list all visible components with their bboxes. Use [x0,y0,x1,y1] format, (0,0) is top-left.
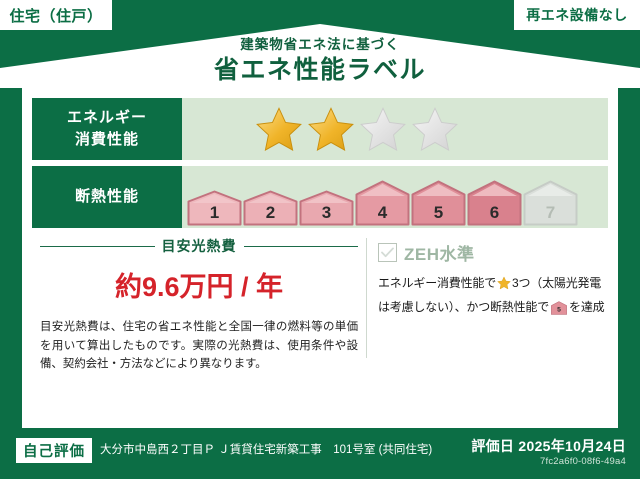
star-filled-icon [255,106,303,152]
zeh-description-part1: エネルギー消費性能で [378,276,496,290]
energy-performance-key: エネルギー 消費性能 [32,98,182,160]
estimated-utility-cost-heading: 目安光熱費 [40,236,358,256]
label-panel: エネルギー 消費性能 断熱性能 1234567 目安光熱費 約9.6万円 / 年 [22,88,618,428]
building-type-tag: 住宅（住戸） [0,0,112,30]
insulation-level-number: 7 [546,203,555,222]
svg-text:5: 5 [557,306,561,313]
property-address: 大分市中島西２丁目Ｐ Ｊ賃貸住宅新築工事 101号室 (共同住宅) [100,441,432,457]
insulation-performance-key-line1: 断熱性能 [75,186,139,208]
estimated-utility-cost-heading-label: 目安光熱費 [162,236,237,256]
zeh-standard-description: エネルギー消費性能で3つ（太陽光発電は考慮しない）、かつ断熱性能で5を達成 [378,273,610,321]
insulation-level-filled: 5 [411,180,466,226]
insulation-performance-row: 断熱性能 1234567 [32,166,608,228]
check-icon [381,247,394,258]
evaluation-date: 評価日 2025年10月24日 [471,436,626,456]
energy-performance-key-line1: エネルギー [67,107,147,129]
insulation-level-number: 4 [378,203,388,222]
insulation-performance-value: 1234567 [182,166,608,228]
inline-star-icon [497,276,511,297]
insulation-level-number: 5 [434,203,443,222]
estimated-utility-cost-block: 目安光熱費 約9.6万円 / 年 目安光熱費は、住宅の省エネ性能と全国一律の燃料… [40,236,358,374]
zeh-description-part3: を達成 [569,300,604,314]
building-type-tag-label: 住宅（住戸） [9,5,102,26]
heading-rule-right [244,246,359,247]
insulation-level-empty: 7 [523,180,578,226]
self-evaluation-badge: 自己評価 [16,438,92,463]
zeh-standard-header: ZEH水準 [378,240,610,265]
insulation-level-filled: 6 [467,180,522,226]
energy-performance-label: 住宅（住戸） 再エネ設備なし 建築物省エネ法に基づく 省エネ性能ラベル エネルギ… [0,0,640,479]
zeh-standard-block: ZEH水準 エネルギー消費性能で3つ（太陽光発電は考慮しない）、かつ断熱性能で5… [378,240,610,321]
energy-performance-value [182,98,608,160]
energy-performance-key-line2: 消費性能 [75,129,139,151]
insulation-level-number: 1 [210,203,219,222]
inline-insulation-level-badge: 5 [551,301,567,322]
label-footer: 自己評価 大分市中島西２丁目Ｐ Ｊ賃貸住宅新築工事 101号室 (共同住宅) 評… [0,428,640,479]
renewable-energy-tag-label: 再エネ設備なし [526,5,628,25]
heading-rule-left [40,246,155,247]
insulation-level-number: 3 [322,203,331,222]
energy-performance-row: エネルギー 消費性能 [32,98,608,160]
insulation-level-number: 6 [490,203,499,222]
star-empty-icon [411,106,459,152]
label-subtitle: 建築物省エネ法に基づく [0,36,640,54]
insulation-level-scale: 1234567 [187,164,578,230]
insulation-level-filled: 3 [299,190,354,226]
renewable-energy-tag: 再エネ設備なし [514,0,640,30]
insulation-level-number: 2 [266,203,275,222]
insulation-level-filled: 2 [243,190,298,226]
section-divider [366,238,367,358]
evaluation-id: 7fc2a6f0-08f6-49a4 [540,456,626,467]
insulation-level-filled: 4 [355,180,410,226]
star-empty-icon [359,106,407,152]
zeh-standard-title: ZEH水準 [404,240,475,265]
estimated-utility-cost-value: 約9.6万円 / 年 [40,265,358,304]
star-rating [255,106,459,152]
label-title-block: 建築物省エネ法に基づく 省エネ性能ラベル [0,36,640,86]
page-title: 省エネ性能ラベル [0,55,640,86]
insulation-level-filled: 1 [187,190,242,226]
estimated-utility-cost-note: 目安光熱費は、住宅の省エネ性能と全国一律の燃料等の単価を用いて算出したものです。… [40,318,358,374]
star-filled-icon [307,106,355,152]
insulation-performance-key: 断熱性能 [32,166,182,228]
zeh-checkbox[interactable] [378,243,397,262]
